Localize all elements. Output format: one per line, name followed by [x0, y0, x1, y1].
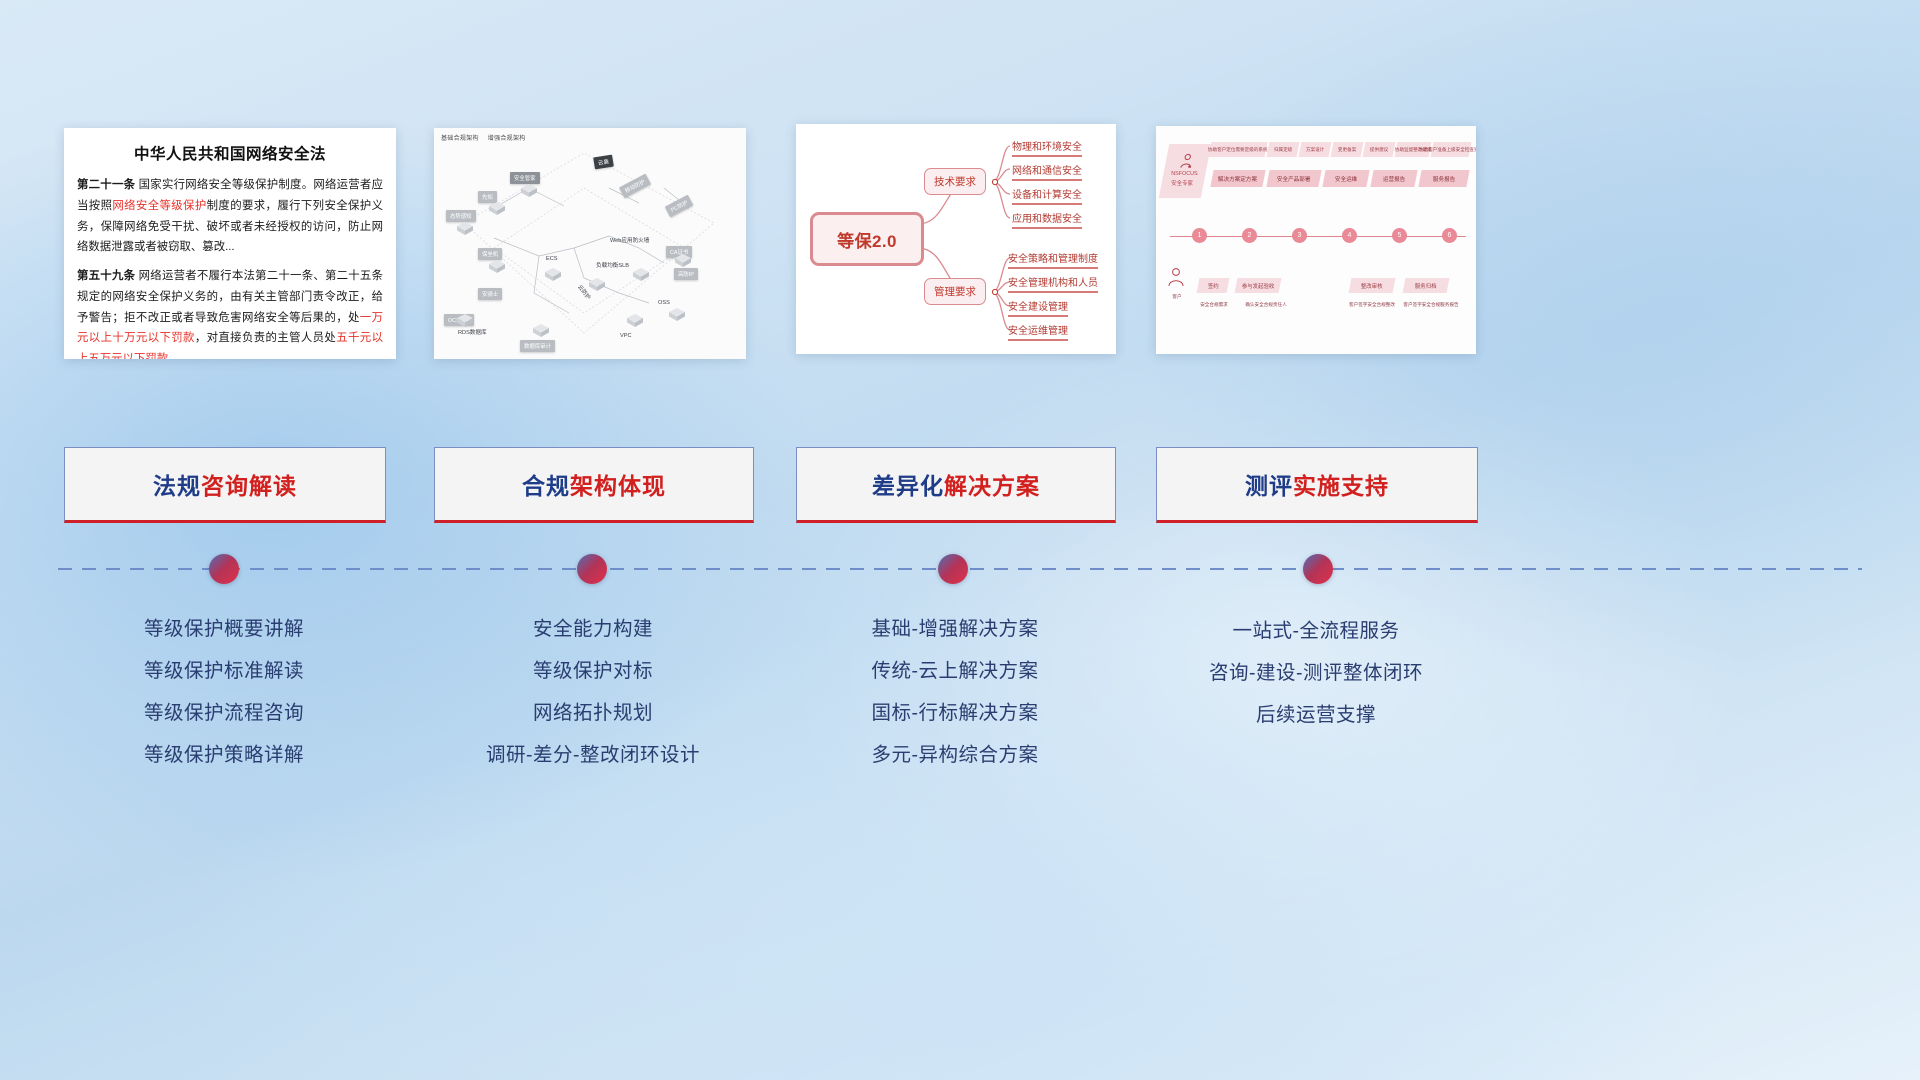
mindmap-branch-technical: 技术要求 [924, 168, 986, 195]
arch-cube-ca [672, 254, 694, 270]
list-item: 传统-云上解决方案 [796, 650, 1114, 692]
list-item: 网络拓扑规划 [434, 692, 752, 734]
nsfocus-timeline: NSFOCUS 安全专家 协助客户定位需要定级的系统 归属定级 方案设计 变更备… [1156, 126, 1476, 354]
architecture-connectors [434, 128, 746, 359]
nsfocus-chip-archive: 服务归档 [1403, 278, 1450, 293]
section-title-1-blue: 法规 [153, 473, 201, 499]
list-item: 一站式-全流程服务 [1156, 610, 1476, 652]
nsfocus-step-1: 1 [1192, 228, 1207, 243]
list-item: 等级保护对标 [434, 650, 752, 692]
arch-node-situational-awareness: 态势感知 [446, 210, 476, 222]
nsfocus-expert-badge: NSFOCUS 安全专家 [1159, 144, 1211, 198]
section-title-box-2[interactable]: 合规架构体现 [434, 447, 754, 523]
slide-canvas: 中华人民共和国网络安全法 第二十一条 国家实行网络安全等级保护制度。网络运营者应… [0, 0, 1920, 1080]
mindmap: 等保2.0 技术要求 管理要求 物理和环境安全 网络和通信安全 设备和计算安全 … [796, 124, 1116, 354]
nsfocus-foot-1: 安全合规需求 [1192, 302, 1236, 308]
section-title-2: 合规架构体现 [522, 467, 666, 501]
nsfocus-customer-label: 客户 [1164, 294, 1190, 300]
arch-node-db-audit: 数据库审计 [520, 340, 555, 352]
arch-node-bastion-host: 保垒机 [478, 248, 502, 260]
arch-cube-4 [486, 260, 508, 276]
nsfocus-top-chevron-2: 归属定级 [1267, 142, 1300, 157]
section-title-1-red: 咨询解读 [201, 473, 297, 499]
law-article-59-label: 第五十九条 [77, 270, 135, 282]
service-list-3: 基础-增强解决方案 传统-云上解决方案 国标-行标解决方案 多元-异构综合方案 [796, 608, 1114, 776]
arch-cube-waf [630, 268, 652, 284]
law-article-21: 第二十一条 国家实行网络安全等级保护制度。网络运营者应当按照网络安全等级保护制度… [77, 175, 383, 258]
mindmap-leaf-device: 设备和计算安全 [1012, 186, 1082, 205]
mindmap-leaf-construction: 安全建设管理 [1008, 298, 1068, 317]
nsfocus-top-chevron-3: 方案设计 [1299, 142, 1332, 157]
nsfocus-foot-2: 确认安全合规责任人 [1236, 302, 1296, 308]
service-list-4: 一站式-全流程服务 咨询-建设-测评整体闭环 后续运营支撑 [1156, 610, 1476, 736]
service-list-2: 安全能力构建 等级保护对标 网络拓扑规划 调研-差分-整改闭环设计 [434, 608, 752, 776]
list-item: 等级保护策略详解 [64, 734, 384, 776]
nsfocus-badge-role: 安全专家 [1171, 181, 1193, 189]
service-list-1: 等级保护概要讲解 等级保护标准解读 等级保护流程咨询 等级保护策略详解 [64, 608, 384, 776]
nsfocus-top-chevron-7: 协助客户准备上级安全检查资料 [1431, 142, 1472, 157]
card-cybersecurity-law: 中华人民共和国网络安全法 第二十一条 国家实行网络安全等级保护制度。网络运营者应… [64, 128, 396, 359]
card-compliance-architecture: 基础合规架构 增强合规架构 云盾 安全管家 [434, 128, 746, 359]
nsfocus-step-6: 6 [1442, 228, 1457, 243]
nsfocus-top-chevron-5: 提供建议 [1363, 142, 1396, 157]
arch-label-vpc: VPC [620, 333, 632, 339]
law-document: 中华人民共和国网络安全法 第二十一条 国家实行网络安全等级保护制度。网络运营者应… [64, 128, 396, 359]
section-title-3: 差异化解决方案 [872, 467, 1040, 501]
arch-cube-ecs [542, 268, 564, 284]
list-item: 等级保护流程咨询 [64, 692, 384, 734]
nsfocus-top-chevron-4: 变更备案 [1331, 142, 1364, 157]
nsfocus-stage-3: 安全运维 [1322, 170, 1369, 187]
mindmap-leaf-operation: 安全运维管理 [1008, 322, 1068, 341]
nsfocus-step-4: 4 [1342, 228, 1357, 243]
list-item: 咨询-建设-测评整体闭环 [1156, 652, 1476, 694]
nsfocus-step-3: 3 [1292, 228, 1307, 243]
nsfocus-foot-4: 客户签字安全合规服务报告 [1400, 302, 1462, 308]
list-item: 多元-异构综合方案 [796, 734, 1114, 776]
nsfocus-step-5: 5 [1392, 228, 1407, 243]
nsfocus-stage-2: 安全产品部署 [1266, 170, 1321, 187]
section-title-box-3[interactable]: 差异化解决方案 [796, 447, 1116, 523]
list-item: 调研-差分-整改闭环设计 [434, 734, 752, 776]
law-article-21-highlight: 网络安全等级保护 [112, 200, 206, 212]
arch-cube-ocs [454, 314, 476, 330]
nsfocus-stage-5: 服务报告 [1418, 170, 1469, 187]
section-title-4-blue: 测评 [1245, 473, 1293, 499]
section-title-4-red: 实施支持 [1293, 473, 1389, 499]
nsfocus-stage-4: 运营报告 [1370, 170, 1417, 187]
arch-cube-2 [486, 202, 508, 218]
nsfocus-chip-sign: 签约 [1197, 278, 1230, 293]
arch-cube-1 [518, 184, 540, 200]
list-item: 等级保护标准解读 [64, 650, 384, 692]
architecture-diagram: 基础合规架构 增强合规架构 云盾 安全管家 [434, 128, 746, 359]
section-title-box-4[interactable]: 测评实施支持 [1156, 447, 1478, 523]
arch-cube-slb [586, 278, 608, 294]
mindmap-leaf-physical: 物理和环境安全 [1012, 138, 1082, 157]
timeline-dot-4 [1303, 554, 1333, 584]
arch-cube-vpc [624, 314, 646, 330]
expert-person-icon [1178, 153, 1195, 169]
law-article-21-label: 第二十一条 [77, 179, 135, 191]
nsfocus-chip-acceptance: 参与发起验收 [1235, 278, 1282, 293]
section-title-2-red: 架构体现 [570, 473, 666, 499]
nsfocus-top-chevron-1: 协助客户定位需要定级的系统 [1209, 142, 1268, 157]
section-title-3-red: 解决方案 [944, 473, 1040, 499]
section-title-box-1[interactable]: 法规咨询解读 [64, 447, 386, 523]
mindmap-leaf-application: 应用和数据安全 [1012, 210, 1082, 229]
arch-label-ecs: ECS [546, 256, 558, 262]
timeline-dot-2 [577, 554, 607, 584]
arch-cube-rds [530, 324, 552, 340]
timeline-dot-1 [209, 554, 239, 584]
timeline-dot-3 [938, 554, 968, 584]
nsfocus-step-2: 2 [1242, 228, 1257, 243]
list-item: 基础-增强解决方案 [796, 608, 1114, 650]
card-mindmap-dengbao: 等保2.0 技术要求 管理要求 物理和环境安全 网络和通信安全 设备和计算安全 … [796, 124, 1116, 354]
mindmap-branch-management: 管理要求 [924, 278, 986, 305]
section-title-1: 法规咨询解读 [153, 467, 297, 501]
arch-label-slb: 负载均衡SLB [596, 261, 629, 269]
mindmap-leaf-policy: 安全策略和管理制度 [1008, 250, 1098, 269]
arch-cube-oss [666, 308, 688, 324]
arch-label-oss: OSS [658, 300, 670, 306]
law-article-59: 第五十九条 网络运营者不履行本法第二十一条、第二十五条规定的网络安全保护义务的，… [77, 266, 383, 359]
customer-person-icon [1166, 266, 1186, 292]
arch-node-security-steward: 安全管家 [510, 172, 540, 184]
nsfocus-badge-name: NSFOCUS [1171, 171, 1197, 179]
section-title-4: 测评实施支持 [1245, 467, 1389, 501]
mindmap-root: 等保2.0 [810, 212, 924, 266]
list-item: 安全能力构建 [434, 608, 752, 650]
section-title-3-blue: 差异化 [872, 473, 944, 499]
nsfocus-chip-rectify-review: 整改审核 [1349, 278, 1396, 293]
nsfocus-axis [1170, 236, 1466, 237]
list-item: 等级保护概要讲解 [64, 608, 384, 650]
nsfocus-stage-1: 解决方案定方案 [1210, 170, 1265, 187]
list-item: 国标-行标解决方案 [796, 692, 1114, 734]
nsfocus-foot-3: 客户签字安全合规整改 [1342, 302, 1402, 308]
mindmap-leaf-network: 网络和通信安全 [1012, 162, 1082, 181]
law-article-59-text-b: ，对直接负责的主管人员处 [195, 332, 336, 344]
section-title-2-blue: 合规 [522, 473, 570, 499]
law-title: 中华人民共和国网络安全法 [77, 142, 383, 164]
arch-label-waf: Web应用防火墙 [610, 236, 649, 244]
arch-node-anqishi: 安骑士 [478, 288, 502, 300]
arch-cube-3 [454, 222, 476, 238]
list-item: 后续运营支撑 [1156, 694, 1476, 736]
card-nsfocus-service-timeline: NSFOCUS 安全专家 协助客户定位需要定级的系统 归属定级 方案设计 变更备… [1156, 126, 1476, 354]
mindmap-leaf-org: 安全管理机构和人员 [1008, 274, 1098, 293]
